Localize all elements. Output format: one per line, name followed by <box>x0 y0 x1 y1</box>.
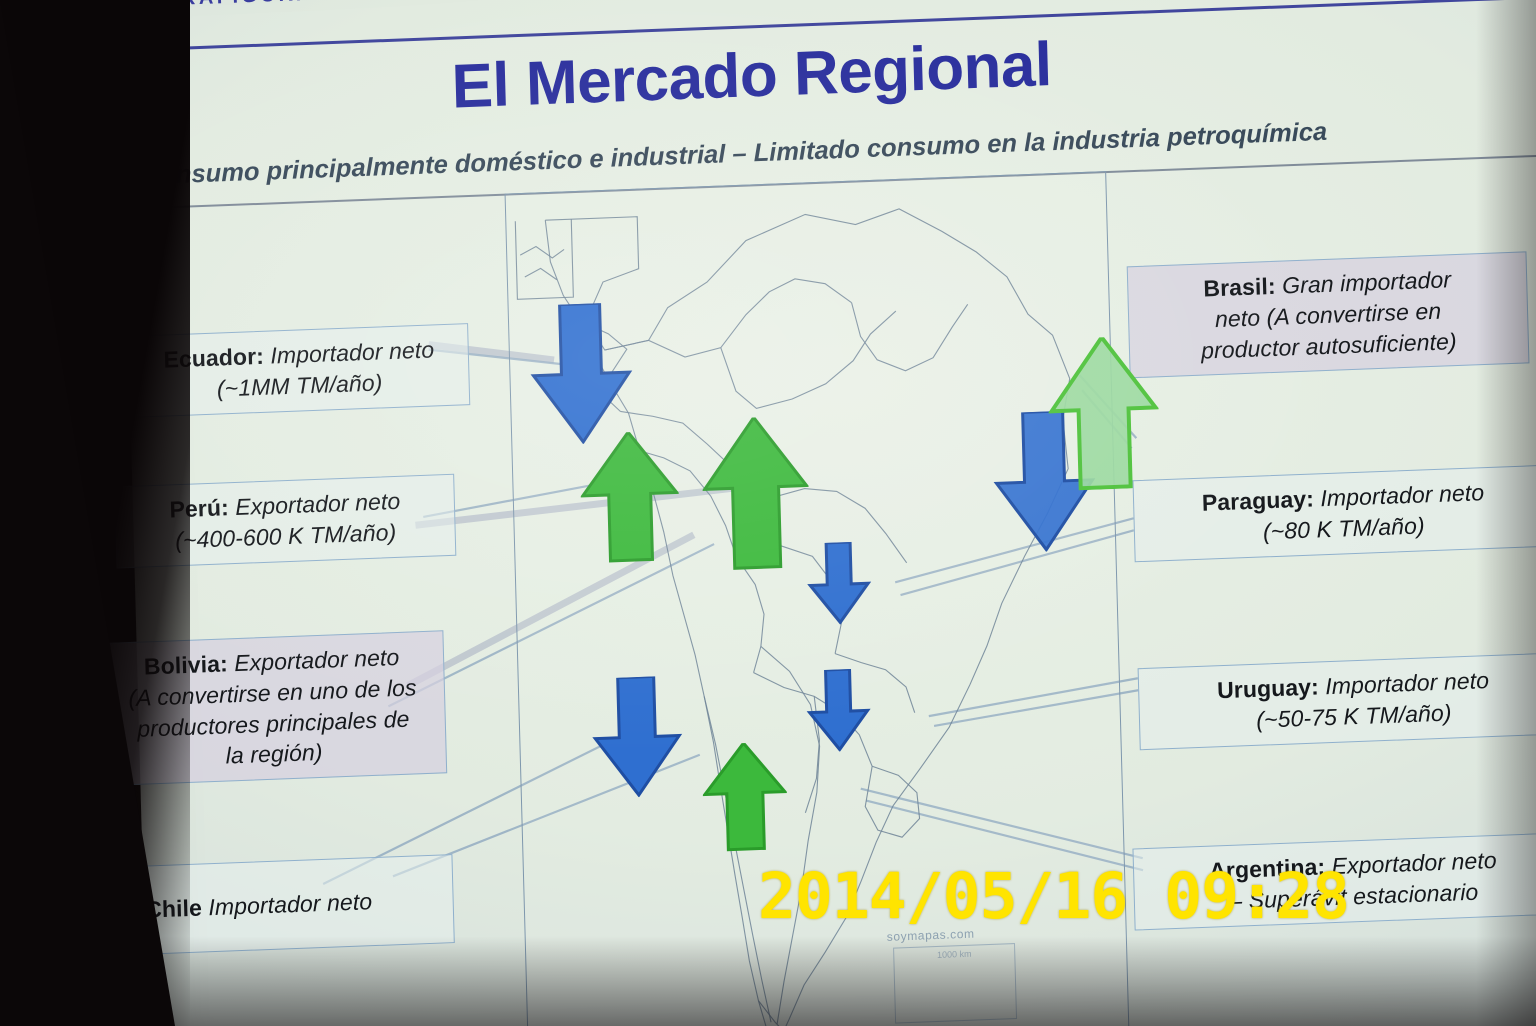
callout-country-uruguay: Uruguay: <box>1217 673 1319 703</box>
callout-chile[interactable]: Chile Importador neto <box>63 854 455 957</box>
callout-ecuador[interactable]: Ecuador: Importador neto (~1MM TM/año) <box>128 323 470 417</box>
ecuador-import-arrow <box>528 302 636 446</box>
callout-country-bolivia: Bolivia: <box>144 650 229 679</box>
callout-country-peru: Perú: <box>169 494 229 522</box>
callout-line-uruguay-0: Importador neto <box>1325 667 1489 699</box>
callout-country-brasil: Brasil: <box>1203 273 1276 302</box>
callout-line-paraguay-0: Importador neto <box>1320 479 1484 511</box>
map-scale-label: 1000 km <box>937 949 972 960</box>
callout-uruguay[interactable]: Uruguay: Importador neto (~50-75 K TM/añ… <box>1138 652 1536 750</box>
callout-line-bolivia-0: Exportador neto <box>234 644 400 676</box>
callout-country-paraguay: Paraguay: <box>1202 486 1315 516</box>
callout-bolivia[interactable]: Bolivia: Exportador neto (A convertirse … <box>99 630 448 786</box>
callout-line-peru-0: Exportador neto <box>235 488 401 520</box>
callout-paraguay[interactable]: Paraguay: Importador neto (~80 K TM/año) <box>1132 465 1536 562</box>
callout-country-chile: Chile <box>145 895 202 923</box>
callout-country-ecuador: Ecuador: <box>163 343 264 373</box>
callout-brasil[interactable]: Brasil: Gran importador neto (A converti… <box>1127 251 1530 378</box>
projected-slide-photo: TRAFIGURA El Mercado Regional Consumo pr… <box>0 0 1536 1026</box>
chile-import-arrow <box>590 675 685 798</box>
callout-line-argentina-0: Exportador neto <box>1331 847 1497 879</box>
callout-line-brasil-0: Gran importador <box>1282 266 1452 298</box>
callout-peru[interactable]: Perú: Exportador neto (~400-600 K TM/año… <box>114 474 456 568</box>
bolivia-export-arrow <box>701 415 811 571</box>
map-scale-box: 1000 km <box>893 943 1017 1024</box>
uruguay-import-arrow <box>806 668 872 752</box>
camera-timestamp: 2014/05/16 09:28 <box>758 860 1349 933</box>
paraguay-import-arrow <box>806 541 872 625</box>
argentina-export-arrow <box>702 742 789 853</box>
callout-line-ecuador-0: Importador neto <box>270 336 434 368</box>
peru-export-arrow <box>579 430 680 564</box>
callout-line-chile-0: Importador neto <box>208 888 372 920</box>
brasil-export-arrow <box>1047 335 1161 491</box>
